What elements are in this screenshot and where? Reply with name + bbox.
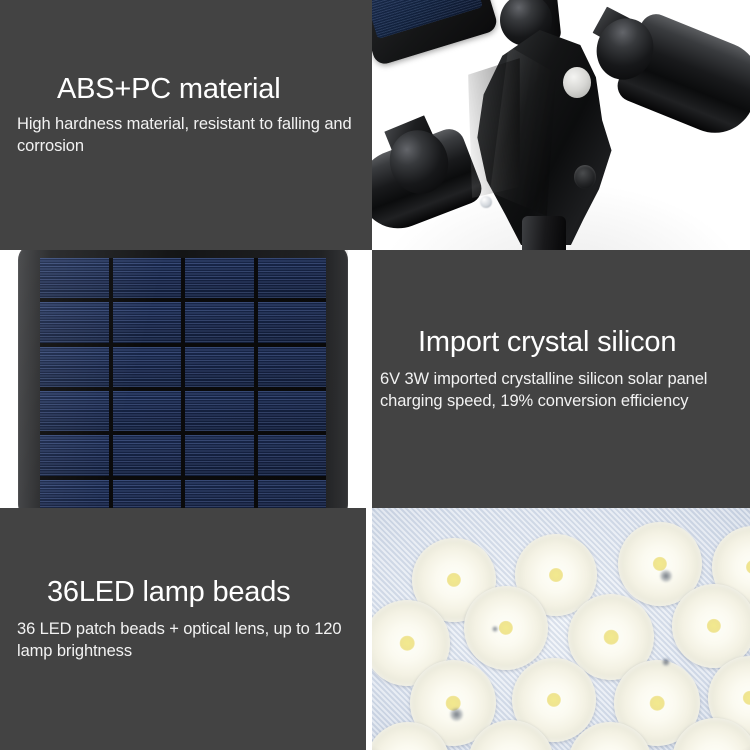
solar-cell [40,435,109,475]
solar-cell [258,480,327,508]
solar-cell [40,391,109,431]
panel-solar-panel-photo [0,250,366,508]
solar-cell [185,258,254,298]
solar-cell-grid [40,258,326,508]
panel-led-beads-photo [372,508,750,750]
panel-abs-pc-body: High hardness material, resistant to fal… [17,113,362,157]
lamp-mounting-post [522,216,566,250]
panel-import-crystal-silicon: Import crystal silicon 6V 3W imported cr… [372,250,750,508]
solar-cell [40,347,109,387]
lamp-head-photo-stage [372,0,750,250]
lamp-hub-facet-left [468,58,520,198]
panel-abs-pc-material: ABS+PC material High hardness material, … [0,0,372,250]
solar-cell [258,347,327,387]
solar-cell [113,302,182,342]
solar-cell [185,347,254,387]
solar-cell [113,391,182,431]
lamp-hub-screw [574,165,596,189]
solar-cell [258,258,327,298]
solar-cell [113,435,182,475]
panel-led-title: 36LED lamp beads [47,578,290,607]
solar-cell [113,347,182,387]
solar-cell [185,480,254,508]
solar-cell [40,258,109,298]
solar-cell [113,258,182,298]
product-infographic: ABS+PC material High hardness material, … [0,0,750,750]
lamp-joint-tip [480,196,492,208]
solar-cell [258,302,327,342]
panel-crystal-title: Import crystal silicon [418,328,676,357]
solar-cell [258,435,327,475]
solar-cell [113,480,182,508]
solar-panel-frame [18,250,348,508]
solar-cell [40,302,109,342]
solar-cell [185,302,254,342]
panel-abs-pc-title: ABS+PC material [57,75,280,104]
solar-cell [185,435,254,475]
panel-led-body: 36 LED patch beads + optical lens, up to… [17,618,362,662]
solar-cell [258,391,327,431]
lamp-hub-indicator-dot [563,67,591,98]
solar-cell [40,480,109,508]
solar-cell [185,391,254,431]
panel-crystal-body: 6V 3W imported crystalline silicon solar… [380,368,746,412]
led-photo-vignette [372,508,750,750]
panel-lamp-head-photo [372,0,750,250]
panel-36led-lamp-beads: 36LED lamp beads 36 LED patch beads + op… [0,508,366,750]
